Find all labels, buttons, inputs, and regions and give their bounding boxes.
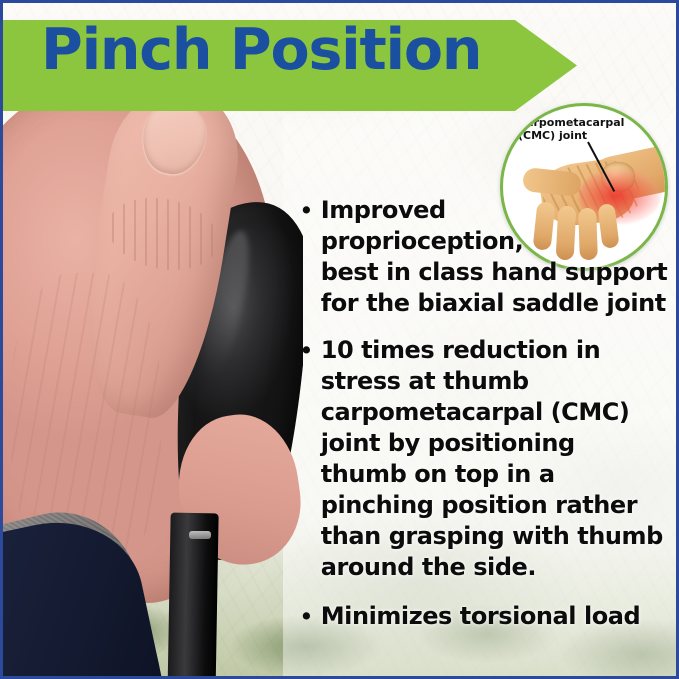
bullet-text: Minimizes torsional load (321, 601, 641, 632)
anatomy-thumb (522, 167, 582, 197)
list-item: • Minimizes torsional load (299, 601, 673, 632)
bullet-text: Improved proprioception, best in class h… (321, 195, 668, 319)
list-item: • Improved proprioception, best in class… (299, 195, 673, 319)
bullet-dot-icon: • (299, 601, 314, 632)
bullet-dot-icon: • (299, 195, 314, 226)
pole-shaft-collar (189, 531, 211, 539)
product-photo-hand-on-grip (3, 23, 303, 679)
bullet-text: 10 times reduction in stress at thumb ca… (321, 335, 663, 583)
cmc-joint-label: Carpometacarpal (CMC) joint (518, 116, 624, 142)
page-title: Pinch Position (41, 22, 481, 79)
infographic-canvas: Pinch Position Carpometacarpal (CMC) joi… (0, 0, 679, 679)
bullet-dot-icon: • (299, 335, 314, 366)
list-item: • 10 times reduction in stress at thumb … (299, 335, 673, 583)
feature-bullet-list: • Improved proprioception, best in class… (299, 195, 673, 632)
